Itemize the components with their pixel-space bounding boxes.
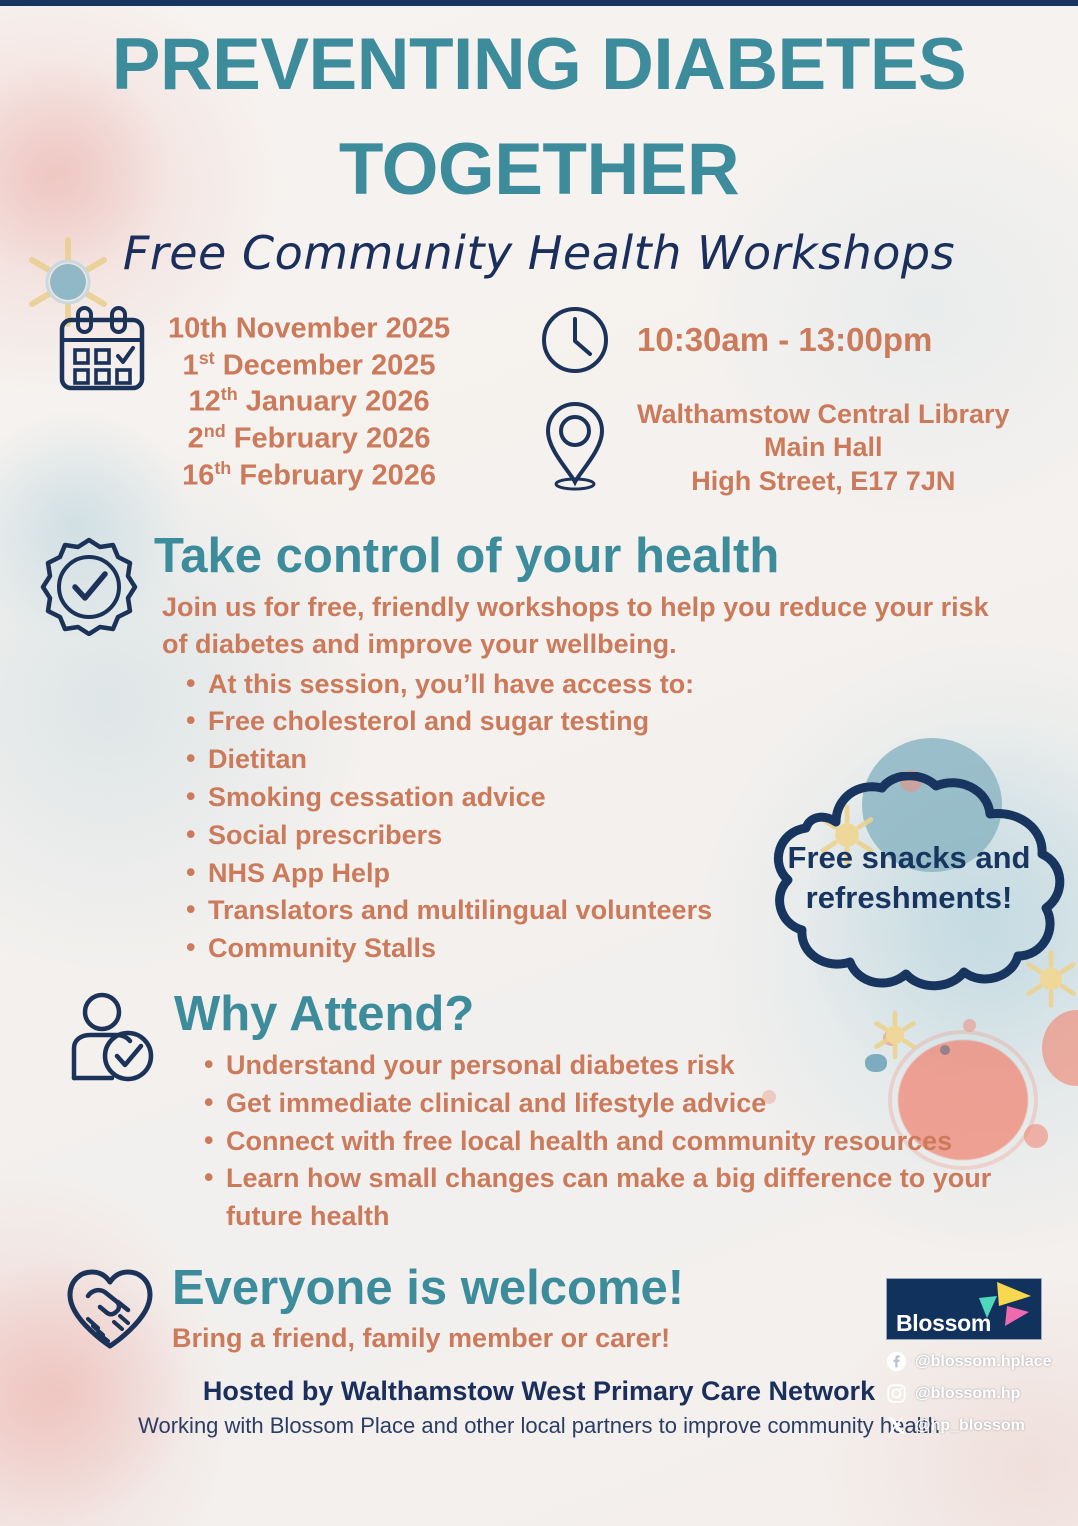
title-line-2: TOGETHER <box>20 105 1058 210</box>
brand-block: Blossom @blossom.hplace @blossom.hp <box>886 1278 1054 1436</box>
why-attend-section: Why Attend? Understand your personal dia… <box>20 990 1058 1236</box>
date-item: 1st December 2025 <box>168 347 450 384</box>
cloud-text: Free snacks and refreshments! <box>744 838 1074 917</box>
list-item: Connect with free local health and commu… <box>196 1123 1058 1161</box>
take-control-intro: Join us for free, friendly workshops to … <box>154 589 1058 664</box>
dates-group: 10th November 2025 1st December 2025 12t… <box>48 304 539 498</box>
event-details: 10th November 2025 1st December 2025 12t… <box>20 304 1058 498</box>
time-row: 10:30am - 13:00pm <box>539 304 1030 376</box>
time-and-venue-group: 10:30am - 13:00pm Walthamstow Central Li… <box>539 304 1030 498</box>
social-facebook[interactable]: @blossom.hplace <box>886 1351 1054 1372</box>
facebook-icon[interactable] <box>886 1351 907 1372</box>
person-check-icon <box>64 992 160 1084</box>
blossom-logo: Blossom <box>886 1278 1042 1340</box>
venue-line-2: Main Hall <box>637 431 1010 464</box>
list-item: Learn how small changes can make a big d… <box>196 1160 1026 1236</box>
list-item: Understand your personal diabetes risk <box>196 1047 1058 1085</box>
list-item: At this session, you’ll have access to: <box>178 666 1058 704</box>
date-item: 10th November 2025 <box>168 310 450 347</box>
time-text: 10:30am - 13:00pm <box>637 321 932 359</box>
take-control-heading: Take control of your health <box>154 532 1058 581</box>
calendar-icon <box>48 304 152 400</box>
intro-line-2: of diabetes and improve your wellbeing. <box>162 626 1058 663</box>
date-item: 12th January 2026 <box>168 383 450 420</box>
instagram-handle[interactable]: @blossom.hp <box>915 1385 1020 1403</box>
dates-list: 10th November 2025 1st December 2025 12t… <box>168 304 450 495</box>
blossom-wordmark: Blossom <box>896 1310 991 1337</box>
page-subtitle: Free Community Health Workshops <box>20 226 1058 280</box>
date-item: 16th February 2026 <box>168 457 450 494</box>
heart-handshake-icon <box>62 1266 158 1354</box>
social-links: @blossom.hplace @blossom.hp @hp_blossom <box>886 1351 1054 1436</box>
location-pin-icon <box>539 398 611 494</box>
x-twitter-icon[interactable] <box>886 1415 907 1436</box>
free-snacks-callout: Free snacks and refreshments! <box>744 772 1074 1002</box>
list-item: Get immediate clinical and lifestyle adv… <box>196 1085 1058 1123</box>
social-instagram[interactable]: @blossom.hp <box>886 1383 1054 1404</box>
cloud-line-2: refreshments! <box>744 878 1074 918</box>
why-attend-bullets: Understand your personal diabetes risk G… <box>196 1047 1058 1236</box>
date-item: 2nd February 2026 <box>168 420 450 457</box>
venue-row: Walthamstow Central Library Main Hall Hi… <box>539 398 1030 498</box>
venue-line-1: Walthamstow Central Library <box>637 398 1010 431</box>
social-x[interactable]: @hp_blossom <box>886 1415 1054 1436</box>
page-title: PREVENTING DIABETES TOGETHER <box>20 0 1058 210</box>
intro-line-1: Join us for free, friendly workshops to … <box>162 589 1058 626</box>
venue-text: Walthamstow Central Library Main Hall Hi… <box>637 398 1010 498</box>
clock-icon <box>539 304 611 376</box>
poster-root: PREVENTING DIABETES TOGETHER Free Commun… <box>0 0 1078 1526</box>
facebook-handle[interactable]: @blossom.hplace <box>915 1353 1052 1371</box>
x-handle[interactable]: @hp_blossom <box>915 1417 1025 1435</box>
verified-badge-icon <box>38 536 140 636</box>
venue-line-3: High Street, E17 7JN <box>637 465 1010 498</box>
title-line-1: PREVENTING DIABETES <box>20 0 1058 105</box>
cloud-line-1: Free snacks and <box>744 838 1074 878</box>
list-item: Free cholesterol and sugar testing <box>178 703 1058 741</box>
instagram-icon[interactable] <box>886 1383 907 1404</box>
